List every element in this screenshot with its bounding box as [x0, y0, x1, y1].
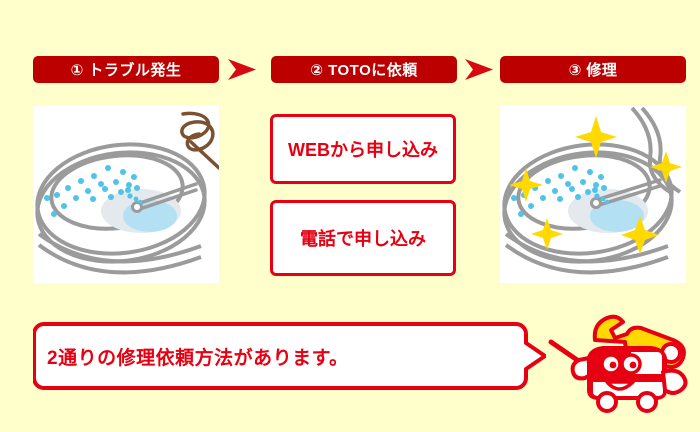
service-van-mascot-icon [545, 306, 695, 418]
step-arrow-1-icon [227, 58, 257, 81]
illustration-panel-trouble [33, 106, 219, 283]
request-button-phone[interactable]: 電話で申し込み [270, 200, 456, 276]
step-bar-request: ② TOTOに依頼 [271, 56, 457, 83]
step-arrow-2-icon [464, 58, 494, 81]
speech-bubble-text: 2通りの修理依頼方法があります。 [47, 343, 349, 370]
step-bar-trouble: ① トラブル発生 [33, 56, 219, 83]
toilet-sparkle-icon [500, 106, 686, 283]
toilet-trouble-icon [33, 106, 219, 283]
infographic-canvas: ① トラブル発生 ② TOTOに依頼 ③ 修理 [0, 0, 700, 432]
illustration-panel-repaired [500, 106, 686, 283]
request-button-web[interactable]: WEBから申し込み [270, 114, 456, 184]
step-bar-repair: ③ 修理 [500, 56, 686, 83]
